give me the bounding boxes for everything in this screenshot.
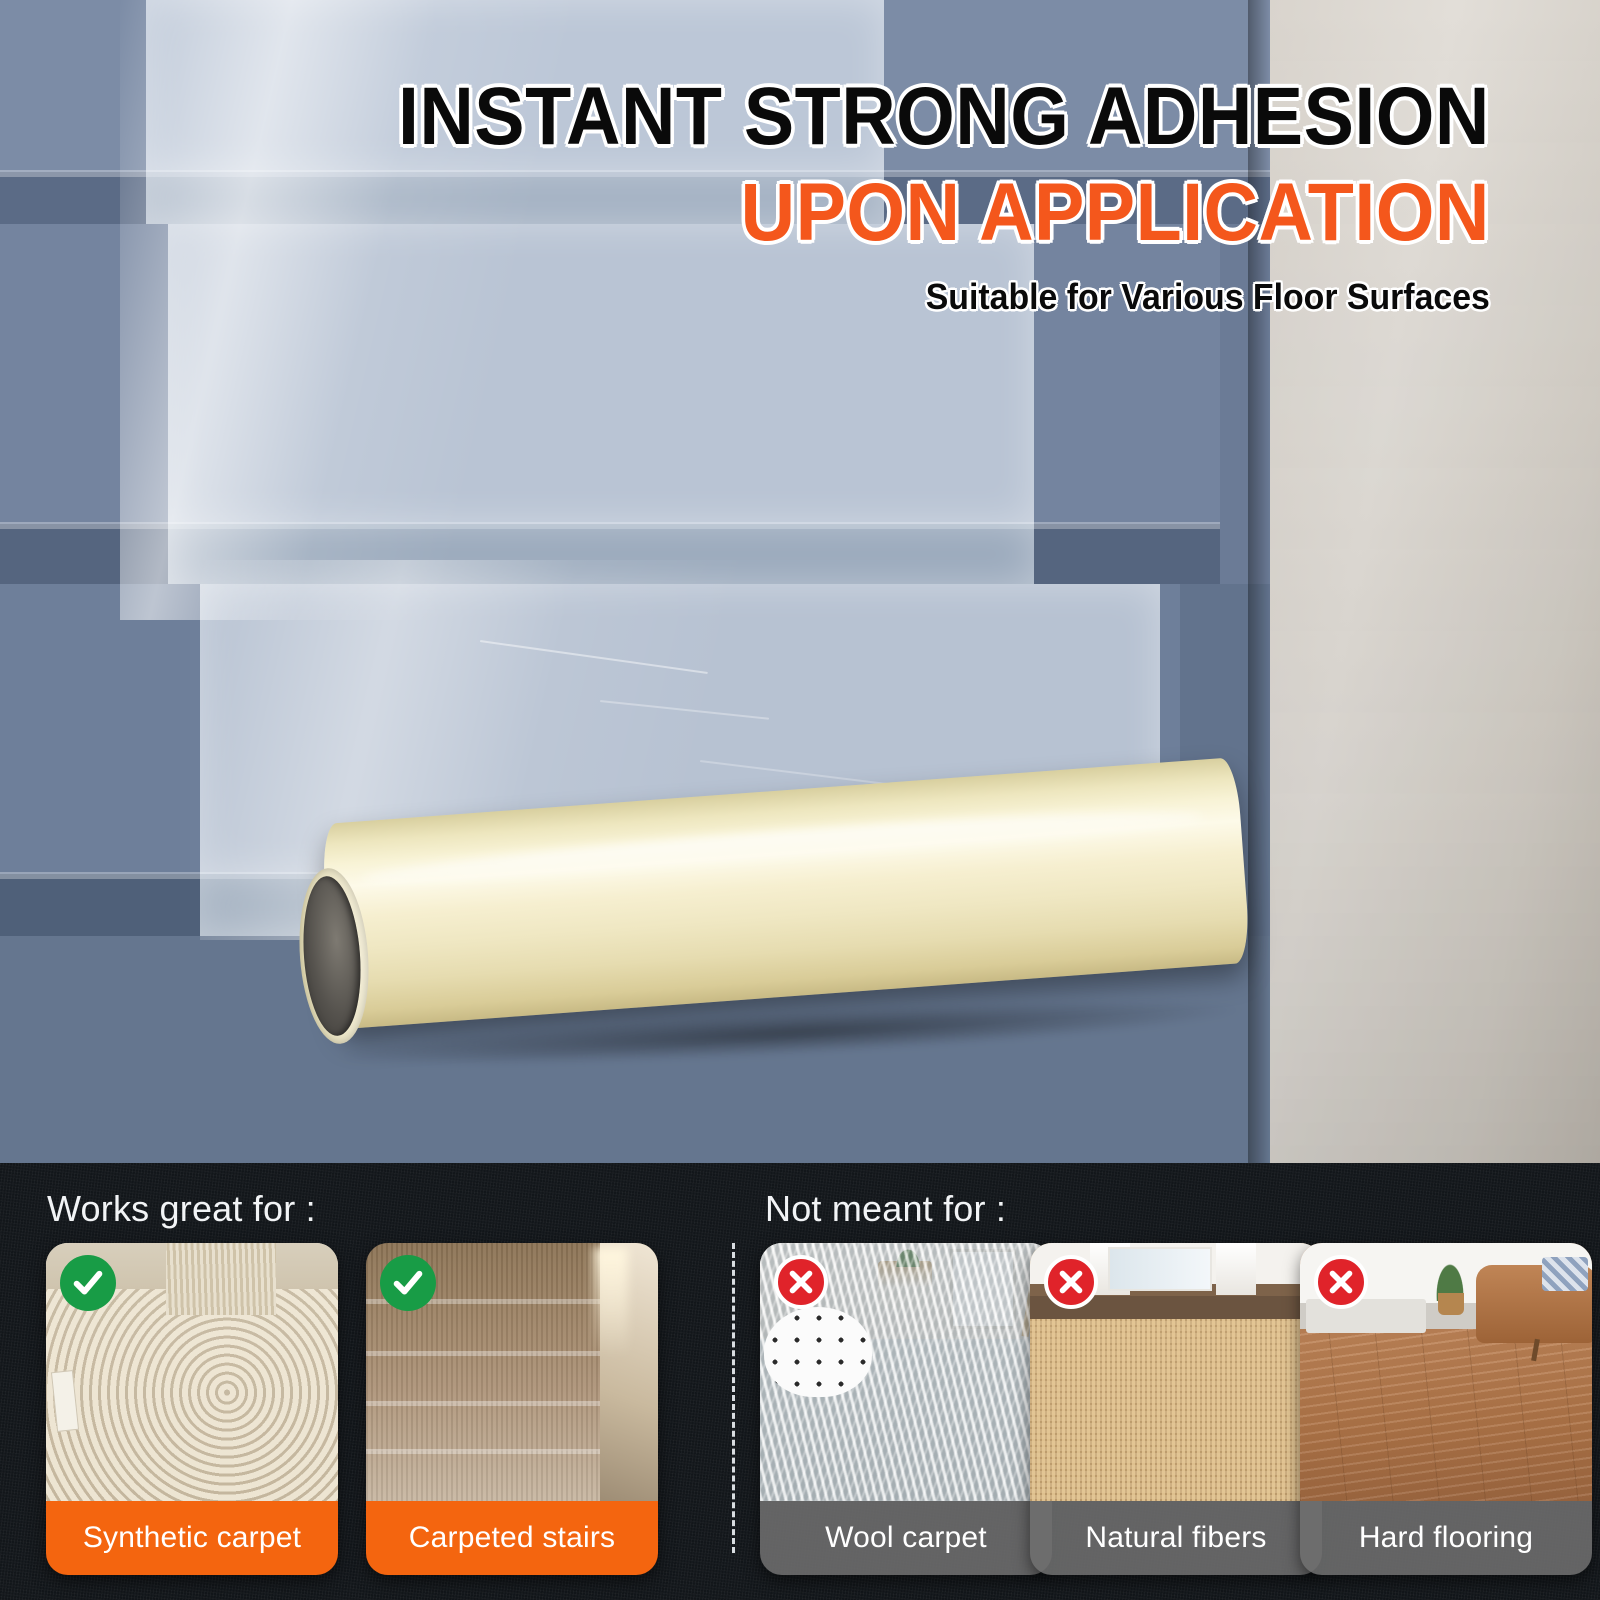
- not-meant-for-heading: Not meant for :: [765, 1188, 1006, 1230]
- card-label: Natural fibers: [1030, 1501, 1322, 1575]
- product-marketing-image: INSTANT STRONG ADHESION UPON APPLICATION…: [0, 0, 1600, 1600]
- card-photo: [760, 1243, 1052, 1501]
- card-label: Synthetic carpet: [46, 1501, 338, 1575]
- card-photo: [46, 1243, 338, 1501]
- card-photo: [366, 1243, 658, 1501]
- section-divider: [732, 1243, 735, 1553]
- card-photo: [1030, 1243, 1322, 1501]
- good-card-carpeted-stairs[interactable]: Carpeted stairs: [366, 1243, 658, 1575]
- headline-line-1: INSTANT STRONG ADHESION: [398, 76, 1490, 158]
- headline-block: INSTANT STRONG ADHESION UPON APPLICATION…: [303, 76, 1490, 318]
- protective-film-riser-2: [168, 524, 1034, 584]
- good-card-synthetic-carpet[interactable]: Synthetic carpet: [46, 1243, 338, 1575]
- card-label: Hard flooring: [1300, 1501, 1592, 1575]
- check-icon: [380, 1255, 436, 1311]
- card-label: Carpeted stairs: [366, 1501, 658, 1575]
- subheadline: Suitable for Various Floor Surfaces: [374, 276, 1490, 318]
- bad-card-hard-flooring[interactable]: Hard flooring: [1300, 1243, 1592, 1575]
- headline-line-2: UPON APPLICATION: [398, 172, 1490, 254]
- hero-photo: INSTANT STRONG ADHESION UPON APPLICATION…: [0, 0, 1600, 1163]
- cross-icon: [774, 1255, 828, 1309]
- card-label: Wool carpet: [760, 1501, 1052, 1575]
- bad-card-natural-fibers[interactable]: Natural fibers: [1030, 1243, 1322, 1575]
- cross-icon: [1314, 1255, 1368, 1309]
- roll-gloss: [360, 801, 1205, 896]
- card-photo: [1300, 1243, 1592, 1501]
- bad-card-wool-carpet[interactable]: Wool carpet: [760, 1243, 1052, 1575]
- product-roll: [300, 824, 1248, 1056]
- check-icon: [60, 1255, 116, 1311]
- works-great-for-heading: Works great for :: [47, 1188, 316, 1230]
- cross-icon: [1044, 1255, 1098, 1309]
